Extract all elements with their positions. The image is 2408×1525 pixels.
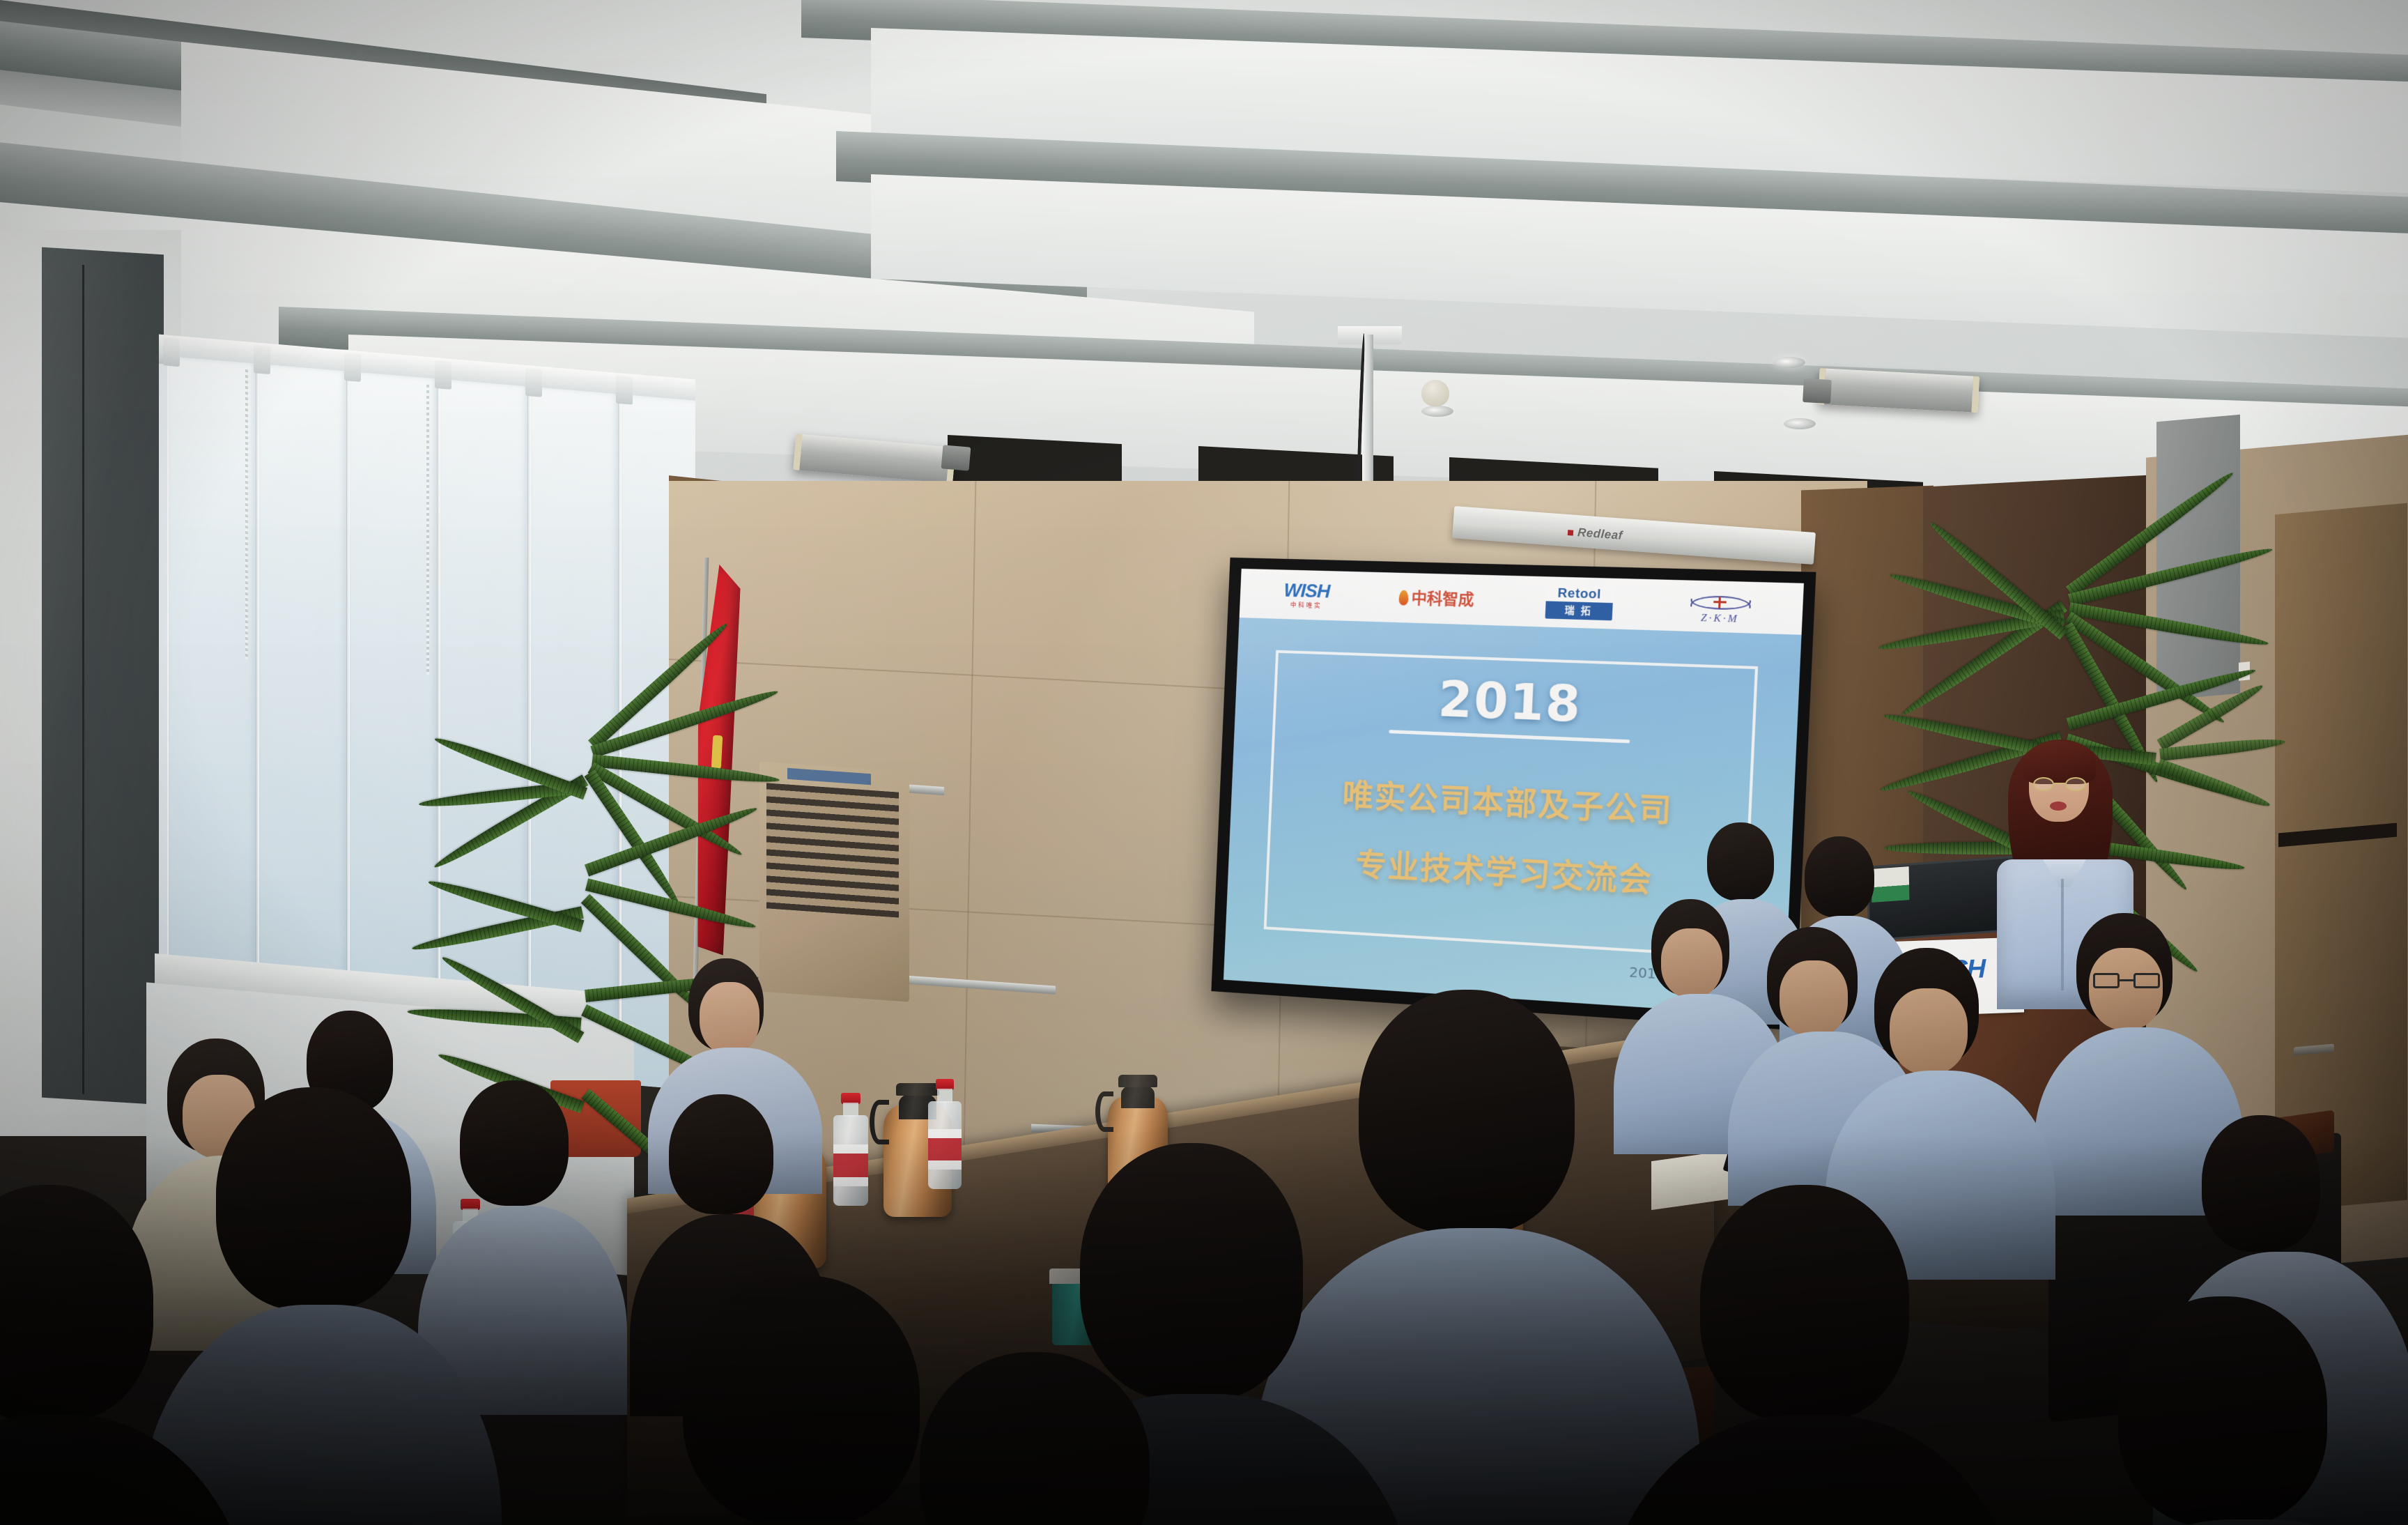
blind-bracket — [163, 337, 180, 367]
presenter-mouth — [2050, 802, 2067, 811]
speaker-mount — [941, 445, 971, 470]
logo-retool: Retool 瑞拓 — [1545, 585, 1613, 620]
slide-year: 2018 — [1437, 670, 1583, 734]
downlight-icon — [1784, 418, 1816, 429]
speaker-mount — [1803, 378, 1832, 404]
conference-room-photo: Redleaf WISH 中科唯实 中科智成 Retool 瑞拓 — [0, 0, 2408, 1525]
blind-bracket — [344, 353, 361, 382]
presenter-shirt-placket — [2061, 879, 2064, 990]
smoke-detector-icon — [1421, 380, 1449, 406]
logo-zkm: Z·K·M — [1685, 588, 1756, 626]
blind-bracket — [254, 345, 270, 374]
blind-slat[interactable] — [258, 364, 347, 1068]
blind-bracket — [435, 360, 451, 390]
door[interactable] — [2275, 503, 2407, 1212]
column-joint-line — [82, 265, 84, 1094]
logo-zhongke-zhicheng: 中科智成 — [1399, 590, 1474, 608]
air-conditioner-grill — [766, 783, 899, 917]
blind-bracket — [525, 368, 542, 397]
flag-star-icon — [711, 735, 723, 769]
blind-pull-chain[interactable] — [245, 367, 248, 659]
blind-slat[interactable] — [348, 371, 438, 1076]
water-bottle[interactable] — [928, 1079, 962, 1189]
blind-slat[interactable] — [167, 356, 256, 1061]
water-bottle[interactable] — [833, 1093, 868, 1206]
logo-wish: WISH 中科唯实 — [1283, 581, 1330, 609]
downlight-icon — [1421, 406, 1453, 417]
brand-dot-icon — [1568, 530, 1574, 536]
presenter-glasses-icon — [2032, 777, 2087, 791]
zkm-mark-icon — [1686, 588, 1756, 613]
structural-column — [42, 247, 164, 1105]
blind-pull-chain[interactable] — [426, 382, 429, 675]
blind-bracket — [616, 376, 633, 405]
glasses-icon — [2093, 973, 2160, 988]
laptop-sticker — [1871, 866, 1910, 903]
downlight-icon — [1773, 357, 1805, 368]
flame-icon — [1399, 590, 1410, 606]
